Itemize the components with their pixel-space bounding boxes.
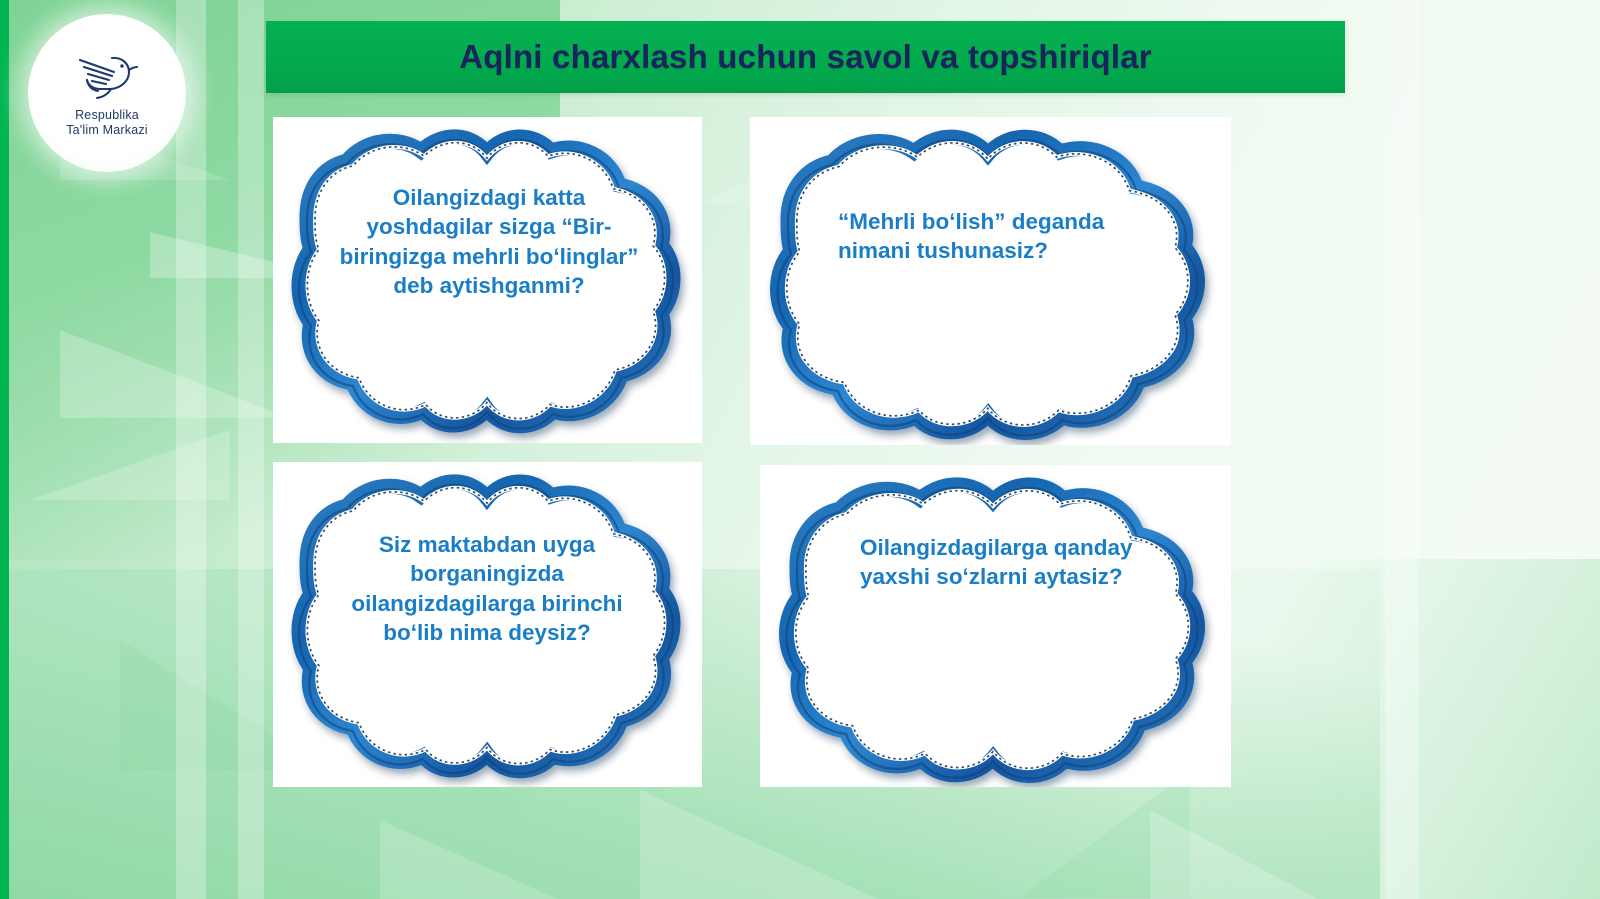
background-light-band <box>176 0 206 899</box>
question-card-2-text: “Mehrli bo‘lish” deganda nimani tushunas… <box>838 207 1138 266</box>
cards-grid: Oilangizdagi katta yoshdagilar sizga “Bi… <box>273 117 1231 787</box>
slide-canvas: Respublika Ta'lim Markazi Aqlni charxlas… <box>0 0 1600 899</box>
background-shard <box>380 820 560 899</box>
question-card-4-text: Oilangizdagilarga qanday yaxshi so‘zlarn… <box>860 533 1160 592</box>
background-shard <box>1150 810 1320 899</box>
left-edge-stripe <box>0 0 9 899</box>
question-card-3-text: Siz maktabdan uyga borganingizda oilangi… <box>328 530 646 647</box>
logo-line-2: Ta'lim Markazi <box>66 123 148 138</box>
background-light-band <box>1385 0 1419 899</box>
question-card-3[interactable]: Siz maktabdan uyga borganingizda oilangi… <box>273 462 702 787</box>
question-card-1[interactable]: Oilangizdagi katta yoshdagilar sizga “Bi… <box>273 117 702 443</box>
page-title: Aqlni charxlash uchun savol va topshiriq… <box>459 38 1152 76</box>
question-card-2[interactable]: “Mehrli bo‘lish” deganda nimani tushunas… <box>750 117 1231 445</box>
ornate-frame-2 <box>750 117 1231 445</box>
ornate-frame-4 <box>760 465 1231 787</box>
question-card-1-text: Oilangizdagi katta yoshdagilar sizga “Bi… <box>331 183 647 300</box>
logo-text: Respublika Ta'lim Markazi <box>66 108 148 139</box>
question-card-4[interactable]: Oilangizdagilarga qanday yaxshi so‘zlarn… <box>760 465 1231 787</box>
logo-line-1: Respublika <box>66 108 148 123</box>
background-shard <box>640 790 880 899</box>
dove-bird-icon <box>74 48 140 104</box>
background-light-band <box>238 0 264 899</box>
organization-logo: Respublika Ta'lim Markazi <box>28 14 186 172</box>
title-banner: Aqlni charxlash uchun savol va topshiriq… <box>266 21 1345 93</box>
